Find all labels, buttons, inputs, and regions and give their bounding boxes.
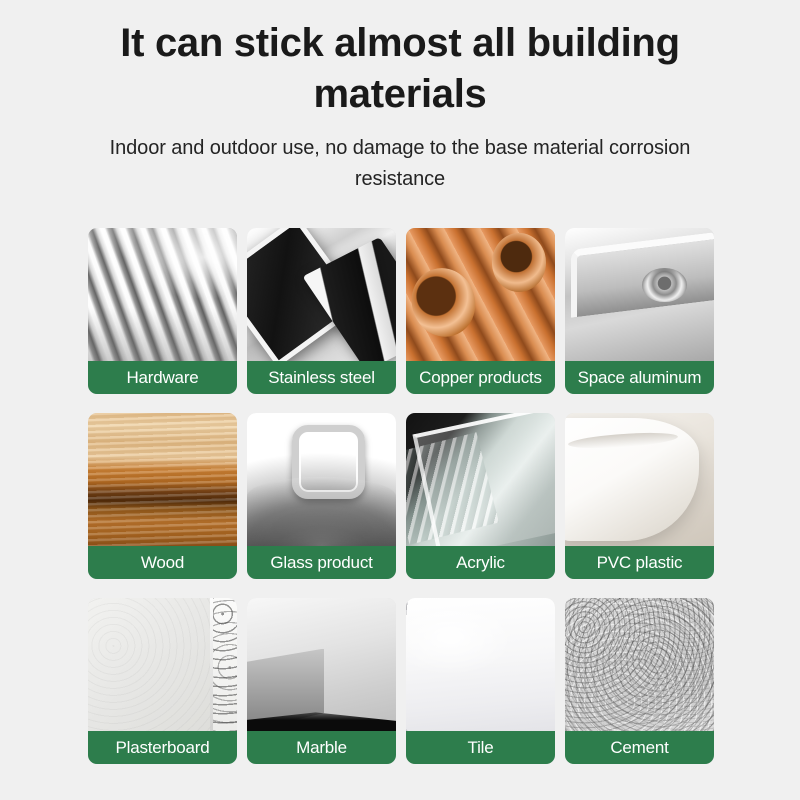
header: It can stick almost all building materia… (0, 0, 800, 195)
material-label: Glass product (247, 546, 396, 579)
plasterboard-panel-photo (88, 598, 237, 731)
material-label: Stainless steel (247, 361, 396, 394)
aluminum-sink-photo (565, 228, 714, 361)
material-label: Copper products (406, 361, 555, 394)
material-label: Acrylic (406, 546, 555, 579)
wood-grain-photo (88, 413, 237, 546)
material-label: PVC plastic (565, 546, 714, 579)
material-tile[interactable]: Space aluminum (565, 228, 714, 394)
copper-pipes-photo (406, 228, 555, 361)
material-label: Hardware (88, 361, 237, 394)
pvc-basin-photo (565, 413, 714, 546)
steel-rods-photo (88, 228, 237, 361)
material-tile[interactable]: Marble (247, 598, 396, 764)
marble-block-photo (247, 598, 396, 731)
material-tile[interactable]: Plasterboard (88, 598, 237, 764)
material-tile[interactable]: Stainless steel (247, 228, 396, 394)
page-title: It can stick almost all building materia… (0, 18, 800, 120)
stainless-tubes-photo (247, 228, 396, 361)
material-grid: HardwareStainless steelCopper productsSp… (88, 228, 714, 764)
page-subtitle: Indoor and outdoor use, no damage to the… (0, 120, 800, 195)
material-tile[interactable]: Tile (406, 598, 555, 764)
material-tile[interactable]: Cement (565, 598, 714, 764)
material-label: Marble (247, 731, 396, 764)
acrylic-sheets-photo (406, 413, 555, 546)
material-label: Tile (406, 731, 555, 764)
material-label: Plasterboard (88, 731, 237, 764)
material-tile[interactable]: PVC plastic (565, 413, 714, 579)
material-label: Cement (565, 731, 714, 764)
glass-lid-photo (247, 413, 396, 546)
material-tile[interactable]: Wood (88, 413, 237, 579)
material-label: Space aluminum (565, 361, 714, 394)
cement-surface-photo (565, 598, 714, 731)
infographic-page: It can stick almost all building materia… (0, 0, 800, 800)
material-tile[interactable]: Hardware (88, 228, 237, 394)
material-tile[interactable]: Acrylic (406, 413, 555, 579)
material-label: Wood (88, 546, 237, 579)
material-tile[interactable]: Glass product (247, 413, 396, 579)
porcelain-tile-photo (406, 598, 555, 731)
material-tile[interactable]: Copper products (406, 228, 555, 394)
